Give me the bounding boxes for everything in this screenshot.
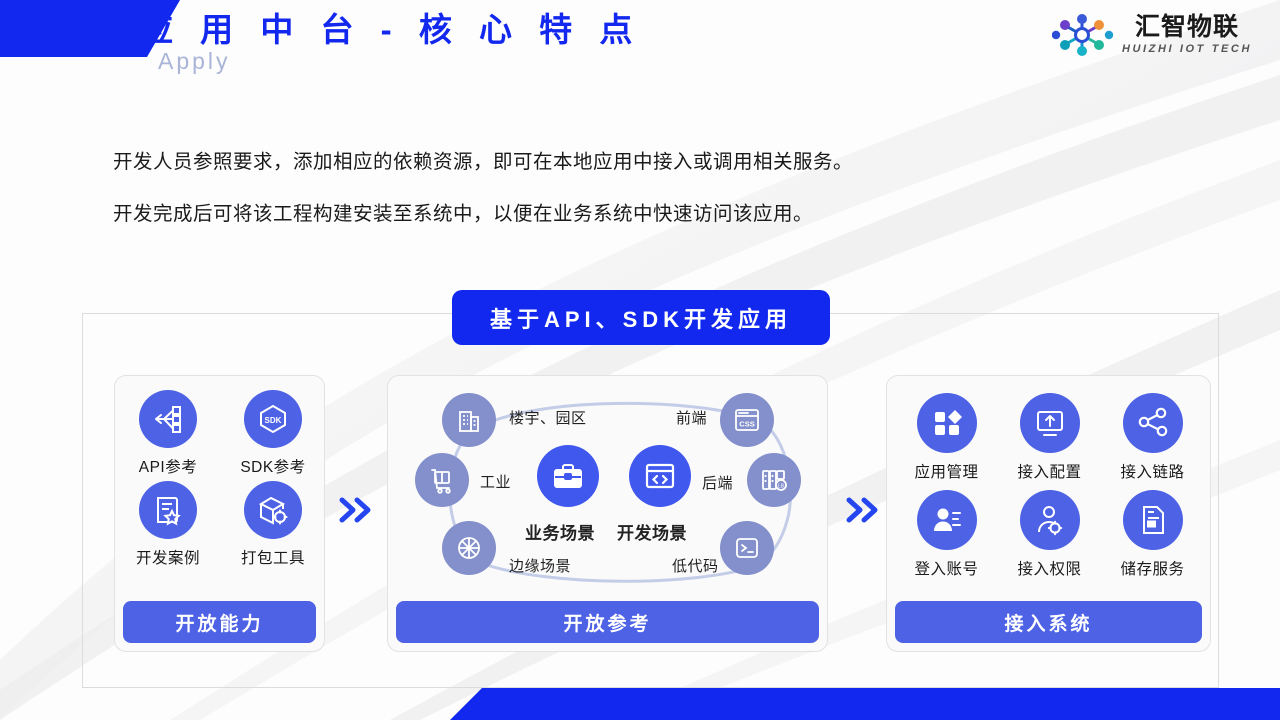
tile-app-management[interactable]: 应用管理 (900, 393, 993, 482)
button-open-reference[interactable]: 开放参考 (396, 601, 819, 643)
map-label-frontend: 前端 (676, 407, 707, 428)
api-branch-icon (139, 390, 197, 448)
page-subtitle: Apply (158, 48, 231, 75)
scenario-circle-diagram: CSS LB 楼宇、园区 工业 边缘场景 前 (387, 375, 828, 607)
double-chevron-right-icon-1 (336, 494, 376, 526)
logo-name-cn: 汇智物联 (1135, 13, 1239, 41)
tile-access-link[interactable]: 接入链路 (1106, 393, 1199, 482)
panel-access-system: 应用管理 接入配置 接入链路 (886, 375, 1211, 652)
tile-label: API参考 (139, 455, 197, 477)
node-frontend-css[interactable]: CSS (720, 393, 774, 447)
document-star-icon (139, 481, 197, 539)
button-open-capability[interactable]: 开放能力 (123, 601, 316, 643)
page-header: 应 用 中 台 - 核 心 特 点 Apply 汇智物联 HUIZHI IOT … (0, 0, 1280, 80)
tile-dev-case[interactable]: 开发案例 (122, 481, 215, 568)
app-grid-icon (917, 393, 977, 453)
map-label-dev-scene: 开发场景 (617, 519, 687, 544)
tile-label: 接入权限 (1017, 557, 1081, 579)
user-gear-icon (1020, 490, 1080, 550)
intro-paragraphs: 开发人员参照要求，添加相应的依赖资源，即可在本地应用中接入或调用相关服务。 开发… (113, 136, 853, 240)
monitor-upload-icon (1020, 393, 1080, 453)
tile-login-account[interactable]: 登入账号 (900, 490, 993, 579)
tile-package-tool[interactable]: 打包工具 (227, 481, 320, 568)
panel-open-capability: API参考 SDK SDK参考 开发案例 (114, 375, 325, 652)
right-tile-grid: 应用管理 接入配置 接入链路 (887, 376, 1212, 579)
section-banner: 基于API、SDK开发应用 (452, 290, 830, 345)
user-list-icon (917, 490, 977, 550)
title-block: 应 用 中 台 - 核 心 特 点 Apply (140, 8, 641, 52)
tile-sdk-reference[interactable]: SDK SDK参考 (227, 390, 320, 477)
brand-logo: 汇智物联 HUIZHI IOT TECH (1052, 12, 1252, 58)
node-backend-server[interactable]: LB (747, 453, 801, 507)
node-dev-scene[interactable] (629, 445, 691, 507)
map-label-lowcode: 低代码 (672, 555, 719, 576)
tile-label: 开发案例 (136, 546, 200, 568)
map-label-industry: 工业 (480, 471, 511, 492)
tile-label: 接入链路 (1120, 460, 1184, 482)
tile-label: 应用管理 (914, 460, 978, 482)
logo-name-en: HUIZHI IOT TECH (1122, 41, 1252, 57)
node-business-scene[interactable] (537, 445, 599, 507)
tile-label: 打包工具 (241, 546, 305, 568)
page-title: 应 用 中 台 - 核 心 特 点 (140, 8, 641, 52)
svg-text:SDK: SDK (265, 416, 282, 425)
double-chevron-right-icon-2 (843, 494, 883, 526)
tile-access-config[interactable]: 接入配置 (1003, 393, 1096, 482)
intro-line-1: 开发人员参照要求，添加相应的依赖资源，即可在本地应用中接入或调用相关服务。 (113, 136, 853, 188)
intro-line-2: 开发完成后可将该工程构建安装至系统中，以便在业务系统中快速访问该应用。 (113, 188, 853, 240)
logo-text-block: 汇智物联 HUIZHI IOT TECH (1122, 13, 1252, 57)
tile-label: 接入配置 (1017, 460, 1081, 482)
tile-api-reference[interactable]: API参考 (122, 390, 215, 477)
footer-accent-shape (450, 688, 1280, 720)
molecule-logo-icon (1052, 12, 1114, 58)
sdk-cube-icon: SDK (244, 390, 302, 448)
node-industry[interactable] (415, 453, 469, 507)
node-building[interactable] (442, 393, 496, 447)
package-gear-icon (244, 481, 302, 539)
svg-text:CSS: CSS (739, 420, 754, 429)
tile-label: 登入账号 (914, 557, 978, 579)
svg-text:LB: LB (778, 484, 785, 490)
map-label-business-scene: 业务场景 (525, 519, 595, 544)
map-label-edge: 边缘场景 (509, 555, 571, 576)
tile-storage-service[interactable]: 储存服务 (1106, 490, 1199, 579)
button-access-system[interactable]: 接入系统 (895, 601, 1202, 643)
node-lowcode-terminal[interactable] (720, 521, 774, 575)
tile-label: 储存服务 (1120, 557, 1184, 579)
section-banner-label: 基于API、SDK开发应用 (490, 302, 792, 334)
tile-label: SDK参考 (240, 455, 305, 477)
left-tile-grid: API参考 SDK SDK参考 开发案例 (115, 376, 326, 568)
tile-access-permission[interactable]: 接入权限 (1003, 490, 1096, 579)
node-edge[interactable] (442, 521, 496, 575)
file-storage-icon (1123, 490, 1183, 550)
map-label-building: 楼宇、园区 (509, 407, 587, 428)
map-label-backend: 后端 (702, 472, 733, 493)
share-nodes-icon (1123, 393, 1183, 453)
